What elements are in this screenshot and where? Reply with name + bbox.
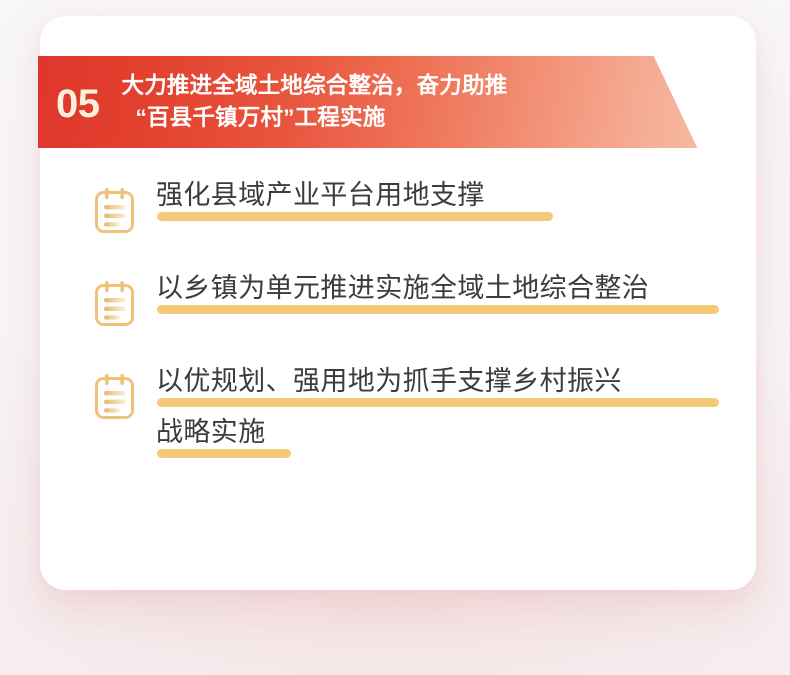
- list-item[interactable]: 以乡镇为单元推进实施全域土地综合整治: [92, 273, 732, 330]
- clipboard-icon: [92, 371, 138, 423]
- list-item[interactable]: 以优规划、强用地为抓手支撑乡村振兴 战略实施: [92, 366, 732, 462]
- underline-highlight: [157, 398, 719, 407]
- list-item-text: 强化县域产业平台用地支撑: [156, 180, 732, 225]
- list-item[interactable]: 强化县域产业平台用地支撑: [92, 180, 732, 237]
- section-number: 05: [56, 84, 100, 124]
- clipboard-icon: [92, 278, 138, 330]
- list-item-text: 以乡镇为单元推进实施全域土地综合整治: [156, 273, 732, 318]
- text-line: 强化县域产业平台用地支撑: [156, 182, 732, 225]
- underline-highlight: [157, 212, 553, 221]
- section-title-line-2: “百县千镇万村”工程实施: [122, 102, 701, 134]
- list-item-label: 战略实施: [156, 417, 266, 447]
- text-line: 战略实施: [156, 419, 732, 462]
- underline-highlight: [157, 449, 291, 458]
- section-banner: 05 大力推进全域土地综合整治，奋力助推 “百县千镇万村”工程实施: [38, 56, 700, 148]
- bullet-list: 强化县域产业平台用地支撑: [40, 180, 756, 462]
- list-item-text: 以优规划、强用地为抓手支撑乡村振兴 战略实施: [156, 366, 732, 462]
- clipboard-icon: [92, 185, 138, 237]
- section-title-line-1: 大力推进全域土地综合整治，奋力助推: [122, 73, 508, 98]
- text-line: 以乡镇为单元推进实施全域土地综合整治: [156, 275, 732, 318]
- text-line: 以优规划、强用地为抓手支撑乡村振兴: [156, 368, 732, 411]
- list-item-label: 以优规划、强用地为抓手支撑乡村振兴: [156, 366, 622, 396]
- list-item-label: 强化县域产业平台用地支撑: [156, 180, 485, 210]
- underline-highlight: [157, 305, 719, 314]
- section-title: 大力推进全域土地综合整治，奋力助推 “百县千镇万村”工程实施: [122, 70, 701, 134]
- list-item-label: 以乡镇为单元推进实施全域土地综合整治: [156, 273, 649, 303]
